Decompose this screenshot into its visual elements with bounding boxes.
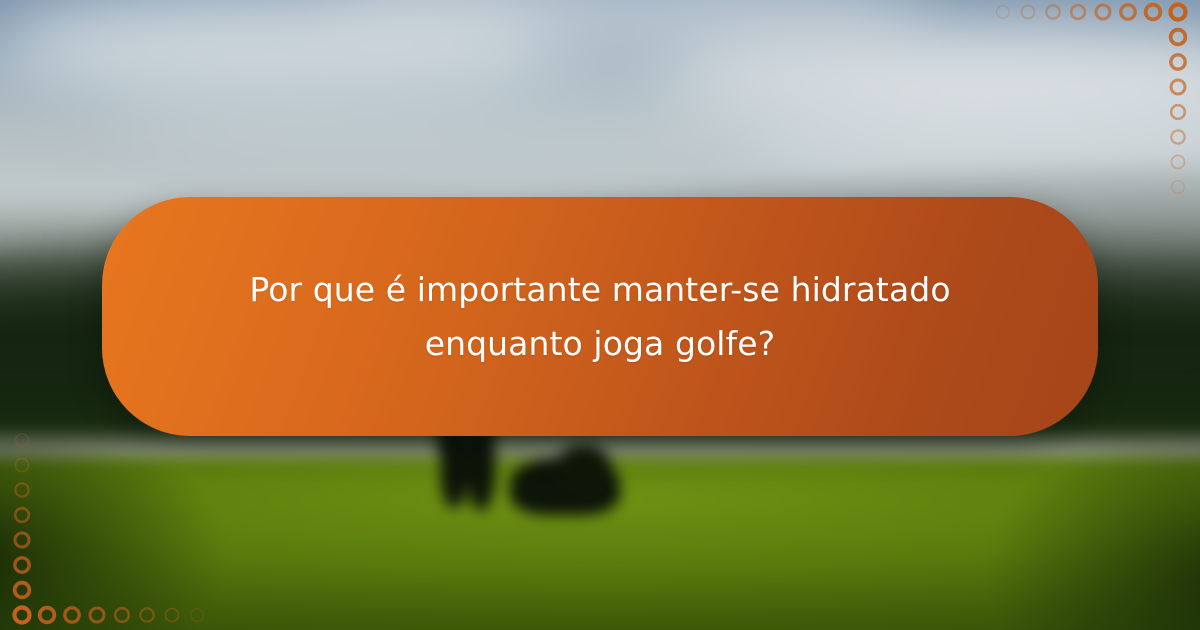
grass-shadow-right xyxy=(856,443,1200,630)
golfer-leg-silhouette xyxy=(467,429,495,511)
golfer-leg-silhouette xyxy=(441,429,467,507)
question-card-graphic: Por que é importante manter-se hidratado… xyxy=(0,0,1200,630)
question-text: Por que é importante manter-se hidratado… xyxy=(220,263,980,370)
golf-bag-silhouette xyxy=(555,446,611,489)
grass-shadow-left xyxy=(0,443,370,630)
question-card: Por que é importante manter-se hidratado… xyxy=(102,197,1098,436)
